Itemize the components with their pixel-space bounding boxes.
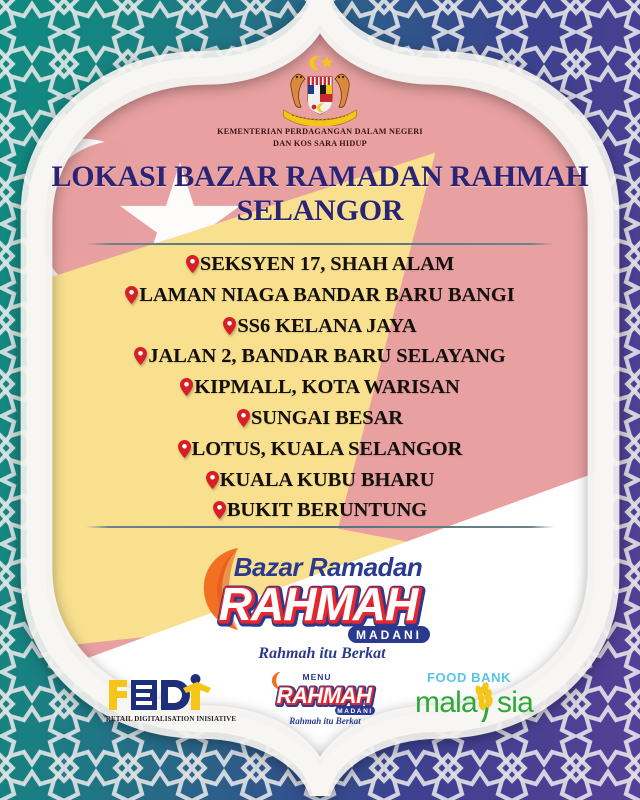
ministry-line-2: DAN KOS SARA HIDUP <box>0 138 640 150</box>
map-pin-icon <box>134 347 147 365</box>
location-item: SUNGAI BESAR <box>0 403 640 434</box>
location-item: KIPMALL, KOTA WARISAN <box>0 372 640 403</box>
page-title: LOKASI BAZAR RAMADAN RAHMAH SELANGOR <box>0 160 640 227</box>
location-name: SEKSYEN 17, SHAH ALAM <box>200 253 454 275</box>
logo-big-text: RAHMAH <box>219 578 419 630</box>
food-bank-line2: mala <box>415 686 478 719</box>
map-pin-icon <box>223 317 236 335</box>
partner-logo-menu-rahmah: MENU RAHMAH RAHMAH RAHMAH MADANI Rahmah … <box>265 668 383 726</box>
location-name: BUKIT BERUNTUNG <box>227 499 427 521</box>
partner-logo-redi: RETAIL DIGITALISATION INISIATIVE <box>103 672 239 724</box>
map-pin-icon <box>178 440 191 458</box>
location-name: LAMAN NIAGA BANDAR BARU BANGI <box>139 284 514 306</box>
location-name: LOTUS, KUALA SELANGOR <box>192 438 463 460</box>
logo-sub-text: MADANI <box>356 628 422 642</box>
partner-logo-food-bank-malaysia: FOOD BANK mala <box>409 666 537 722</box>
food-bank-line1: FOOD BANK <box>427 670 511 685</box>
poster-root: KEMENTERIAN PERDAGANGAN DALAM NEGERI DAN… <box>0 0 640 800</box>
location-name: SUNGAI BESAR <box>251 407 403 429</box>
location-item: LOTUS, KUALA SELANGOR <box>0 434 640 465</box>
malaysia-coat-of-arms-icon <box>272 52 368 126</box>
ministry-line-1: KEMENTERIAN PERDAGANGAN DALAM NEGERI <box>0 126 640 138</box>
location-item: SEKSYEN 17, SHAH ALAM <box>0 249 640 280</box>
location-item: BUKIT BERUNTUNG <box>0 495 640 526</box>
location-item: JALAN 2, BANDAR BARU SELAYANG <box>0 341 640 372</box>
redi-caption: RETAIL DIGITALISATION INISIATIVE <box>106 715 237 723</box>
divider-bottom <box>86 526 554 528</box>
map-pin-icon <box>213 501 226 519</box>
location-name: SS6 KELANA JAYA <box>237 315 416 337</box>
ministry-name: KEMENTERIAN PERDAGANGAN DALAM NEGERI DAN… <box>0 126 640 150</box>
location-name: KUALA KUBU BHARU <box>220 469 435 491</box>
wheat-stalk-icon <box>474 681 494 722</box>
location-item: LAMAN NIAGA BANDAR BARU BANGI <box>0 280 640 311</box>
location-name: JALAN 2, BANDAR BARU SELAYANG <box>148 345 505 367</box>
menu-sub-text: MADANI <box>337 708 373 715</box>
food-bank-line3: sia <box>497 686 534 719</box>
menu-tagline: Rahmah itu Berkat <box>288 716 361 726</box>
map-pin-icon <box>186 255 199 273</box>
title-line-2: SELANGOR <box>0 194 640 228</box>
divider-top <box>86 243 554 245</box>
map-pin-icon <box>237 409 250 427</box>
menu-wordmark: RAHMAH <box>277 683 373 708</box>
location-item: SS6 KELANA JAYA <box>0 311 640 342</box>
location-name: KIPMALL, KOTA WARISAN <box>194 376 459 398</box>
location-list: SEKSYEN 17, SHAH ALAMLAMAN NIAGA BANDAR … <box>0 249 640 526</box>
map-pin-icon <box>206 471 219 489</box>
bazar-ramadan-rahmah-logo: Bazar Ramadan RAHMAH RAHMAH RAHMAH MADAN… <box>182 538 458 662</box>
menu-eyebrow: MENU <box>302 672 331 682</box>
title-line-1: LOKASI BAZAR RAMADAN RAHMAH <box>0 160 640 194</box>
location-item: KUALA KUBU BHARU <box>0 465 640 496</box>
partner-logos: RETAIL DIGITALISATION INISIATIVE MENU RA… <box>0 664 640 726</box>
logo-tagline: Rahmah itu Berkat <box>257 645 386 662</box>
map-pin-icon <box>125 286 138 304</box>
map-pin-icon <box>180 378 193 396</box>
